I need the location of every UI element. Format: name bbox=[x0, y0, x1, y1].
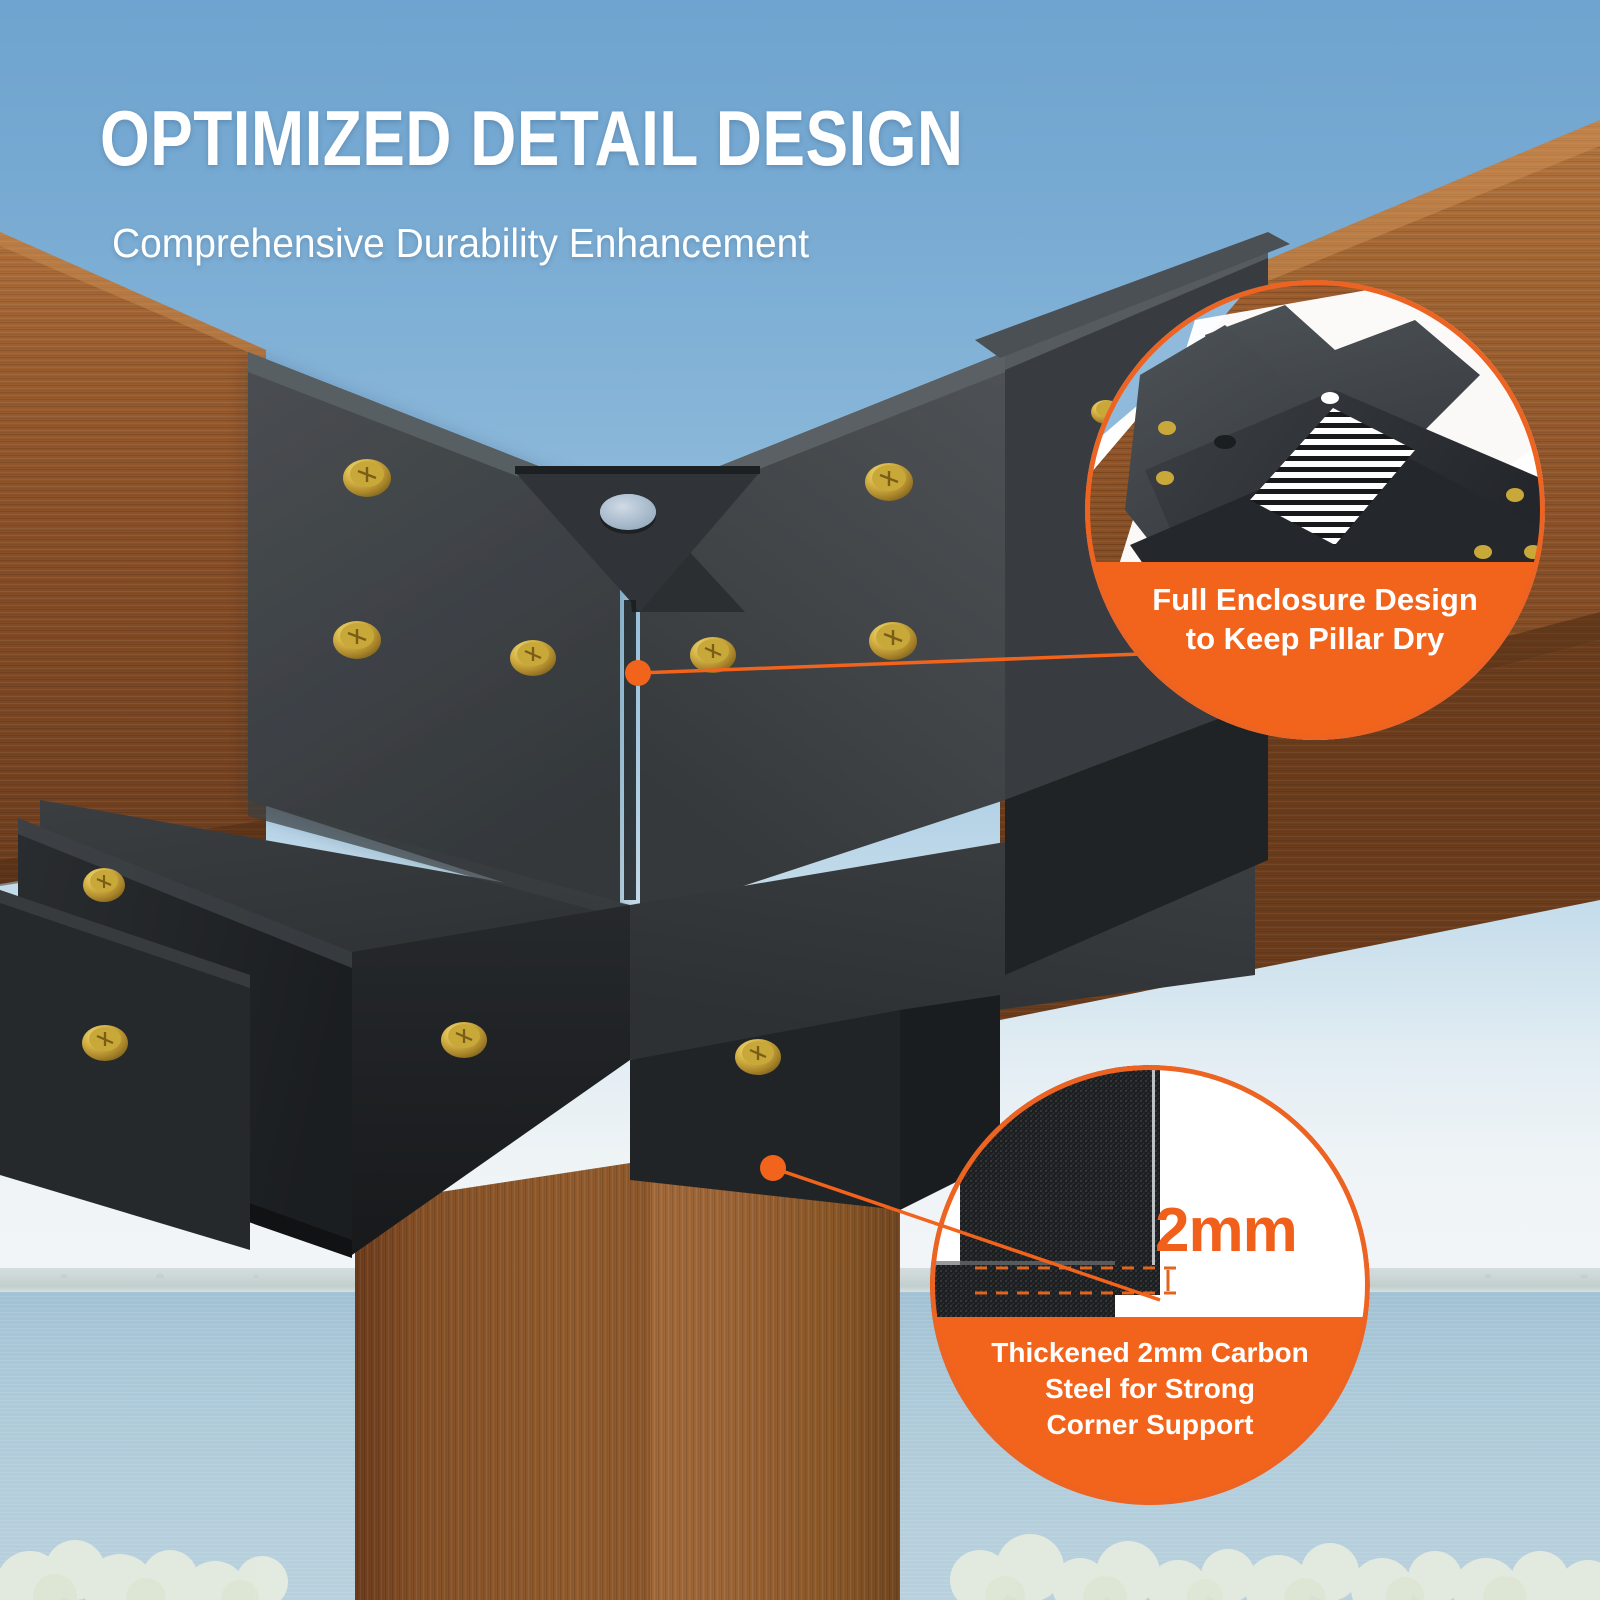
screw bbox=[735, 1039, 781, 1075]
screw bbox=[333, 621, 381, 659]
screw bbox=[441, 1022, 487, 1058]
callout-enclosure-caption-line1: Full Enclosure Design bbox=[1152, 580, 1478, 619]
callout-thickness-caption: Thickened 2mm Carbon Steel for Strong Co… bbox=[930, 1317, 1370, 1505]
bracket-left-upper-wall bbox=[248, 352, 620, 920]
page-title: OPTIMIZED DETAIL DESIGN bbox=[100, 96, 963, 180]
callout-enclosure-caption: Full Enclosure Design to Keep Pillar Dry bbox=[1085, 562, 1545, 740]
callout-thickened-steel[interactable]: 2mm Thickened 2mm Carbon Steel for Stron… bbox=[930, 1065, 1370, 1505]
callout-thickness-caption-line2: Steel for Strong bbox=[1045, 1371, 1255, 1407]
screw bbox=[865, 463, 913, 501]
screw bbox=[510, 640, 556, 676]
callout-thickness-caption-line1: Thickened 2mm Carbon bbox=[991, 1335, 1308, 1371]
callout-thickness-caption-line3: Corner Support bbox=[1047, 1407, 1254, 1443]
screw bbox=[343, 459, 391, 497]
left-wood-beam bbox=[0, 232, 266, 886]
vertical-wood-post bbox=[355, 1160, 900, 1600]
bracket-center-crease bbox=[624, 600, 636, 900]
screw bbox=[869, 622, 917, 660]
callout-full-enclosure[interactable]: Full Enclosure Design to Keep Pillar Dry bbox=[1085, 280, 1545, 740]
screw bbox=[83, 868, 125, 902]
screw bbox=[690, 637, 736, 673]
bracket-right-upper-wall bbox=[640, 352, 1005, 920]
product-marketing-image: OPTIMIZED DETAIL DESIGN Comprehensive Du… bbox=[0, 0, 1600, 1600]
screw bbox=[82, 1025, 128, 1061]
page-subtitle: Comprehensive Durability Enhancement bbox=[112, 218, 809, 268]
callout-enclosure-caption-line2: to Keep Pillar Dry bbox=[1186, 619, 1444, 658]
thickness-measurement-label: 2mm bbox=[1155, 1200, 1297, 1262]
